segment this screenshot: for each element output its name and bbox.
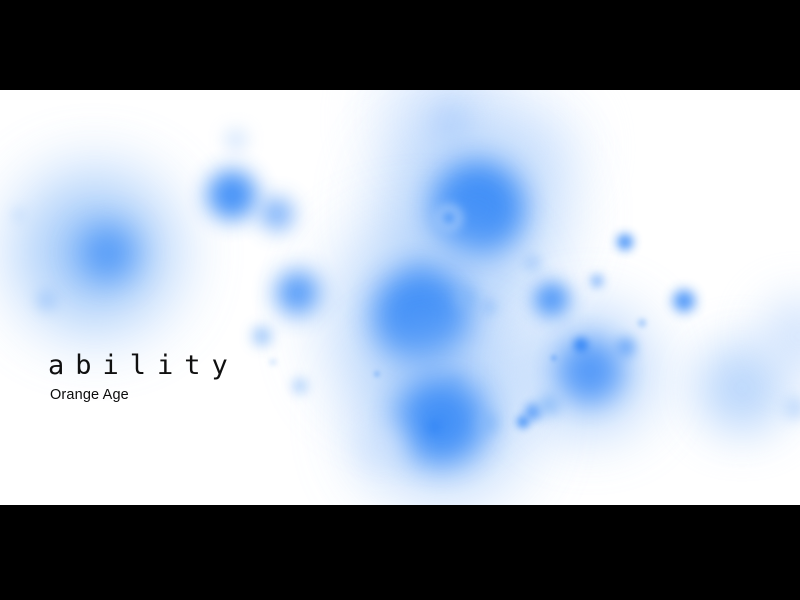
bokeh-circle-dot-right-d [673,290,695,312]
artist-subtitle: Orange Age [50,388,239,403]
bokeh-circle-blob-lower-halo [364,338,524,498]
bokeh-circle-dot-right-a [617,234,633,250]
bokeh-circle-dot-right-lowc [517,416,529,428]
bokeh-circle-dot-right-left [551,355,557,361]
bokeh-circle-blob-left-core [80,225,136,281]
letterbox-bar-bottom [0,505,800,600]
bokeh-circle-ring-upper-left [407,253,441,287]
bokeh-circle-dot-far-right-small [785,398,800,418]
bokeh-circle-dot-center-a [457,289,475,307]
bokeh-circle-blob-center-core [374,269,468,363]
bokeh-circle-dot-top-pale [226,130,246,150]
bokeh-circle-blob-right-core [558,339,622,403]
bokeh-circle-blob-far-right-pale [698,344,786,432]
bokeh-circle-blob-far-right-edge [763,300,800,372]
bokeh-circle-dot-right-side [617,338,635,356]
bokeh-circle-blob-top-faint-b [482,100,578,196]
bokeh-circle-dot-center-tiny [374,371,380,377]
bokeh-circle-blob-center-halo [334,232,510,408]
bokeh-circle-dot-center-b [482,300,496,314]
bokeh-circle-ring-upper-small [435,204,463,232]
bokeh-circle-dot-right-lowb [539,395,559,415]
bokeh-circle-blob-left-large-halo [17,174,173,330]
bokeh-circle-dot-right-core-in [574,338,588,352]
bokeh-circle-dot-near-title-a [253,327,271,345]
bokeh-circle-circle-mid-left-b [261,198,293,230]
bokeh-circle-blob-upper-halo [386,126,558,298]
bokeh-circle-dot-lower-right [479,414,497,432]
bokeh-circle-dot-lower-inner [428,421,440,433]
album-art-stage: ability Orange Age [0,0,800,600]
bokeh-circle-dot-right-c [534,282,570,318]
bokeh-circle-circle-mid-left [207,170,257,220]
bokeh-circle-dot-right-e [638,319,646,327]
bokeh-circle-blob-top-faint-ring [432,102,472,142]
bokeh-circle-blob-bottom-pale [359,425,403,469]
bokeh-circle-dot-upper-inner [443,212,455,224]
bokeh-circle-dot-center-c [448,375,462,389]
title-block: ability Orange Age [48,352,239,403]
bokeh-circle-dot-right-lowa [525,404,541,420]
bokeh-circle-dot-left-tiny [12,208,26,222]
bokeh-circle-dot-near-title-c [270,359,276,365]
bokeh-circle-dot-left-small [37,290,57,310]
bokeh-circle-dot-upper-right [524,255,540,271]
bokeh-circle-blob-top-faint-a [386,90,510,182]
bokeh-circle-blob-upper-core [432,162,524,254]
bokeh-circle-circle-mid-center [276,271,320,315]
bokeh-layer [0,90,800,505]
bokeh-circle-blob-right-halo [528,309,652,433]
bokeh-circle-dot-near-title-b [293,379,307,393]
page-title: ability [48,352,239,379]
bokeh-circle-blob-lower-core [397,377,485,465]
artwork-band: ability Orange Age [0,90,800,505]
letterbox-bar-top [0,0,800,90]
bokeh-circle-dot-right-b [591,275,603,287]
